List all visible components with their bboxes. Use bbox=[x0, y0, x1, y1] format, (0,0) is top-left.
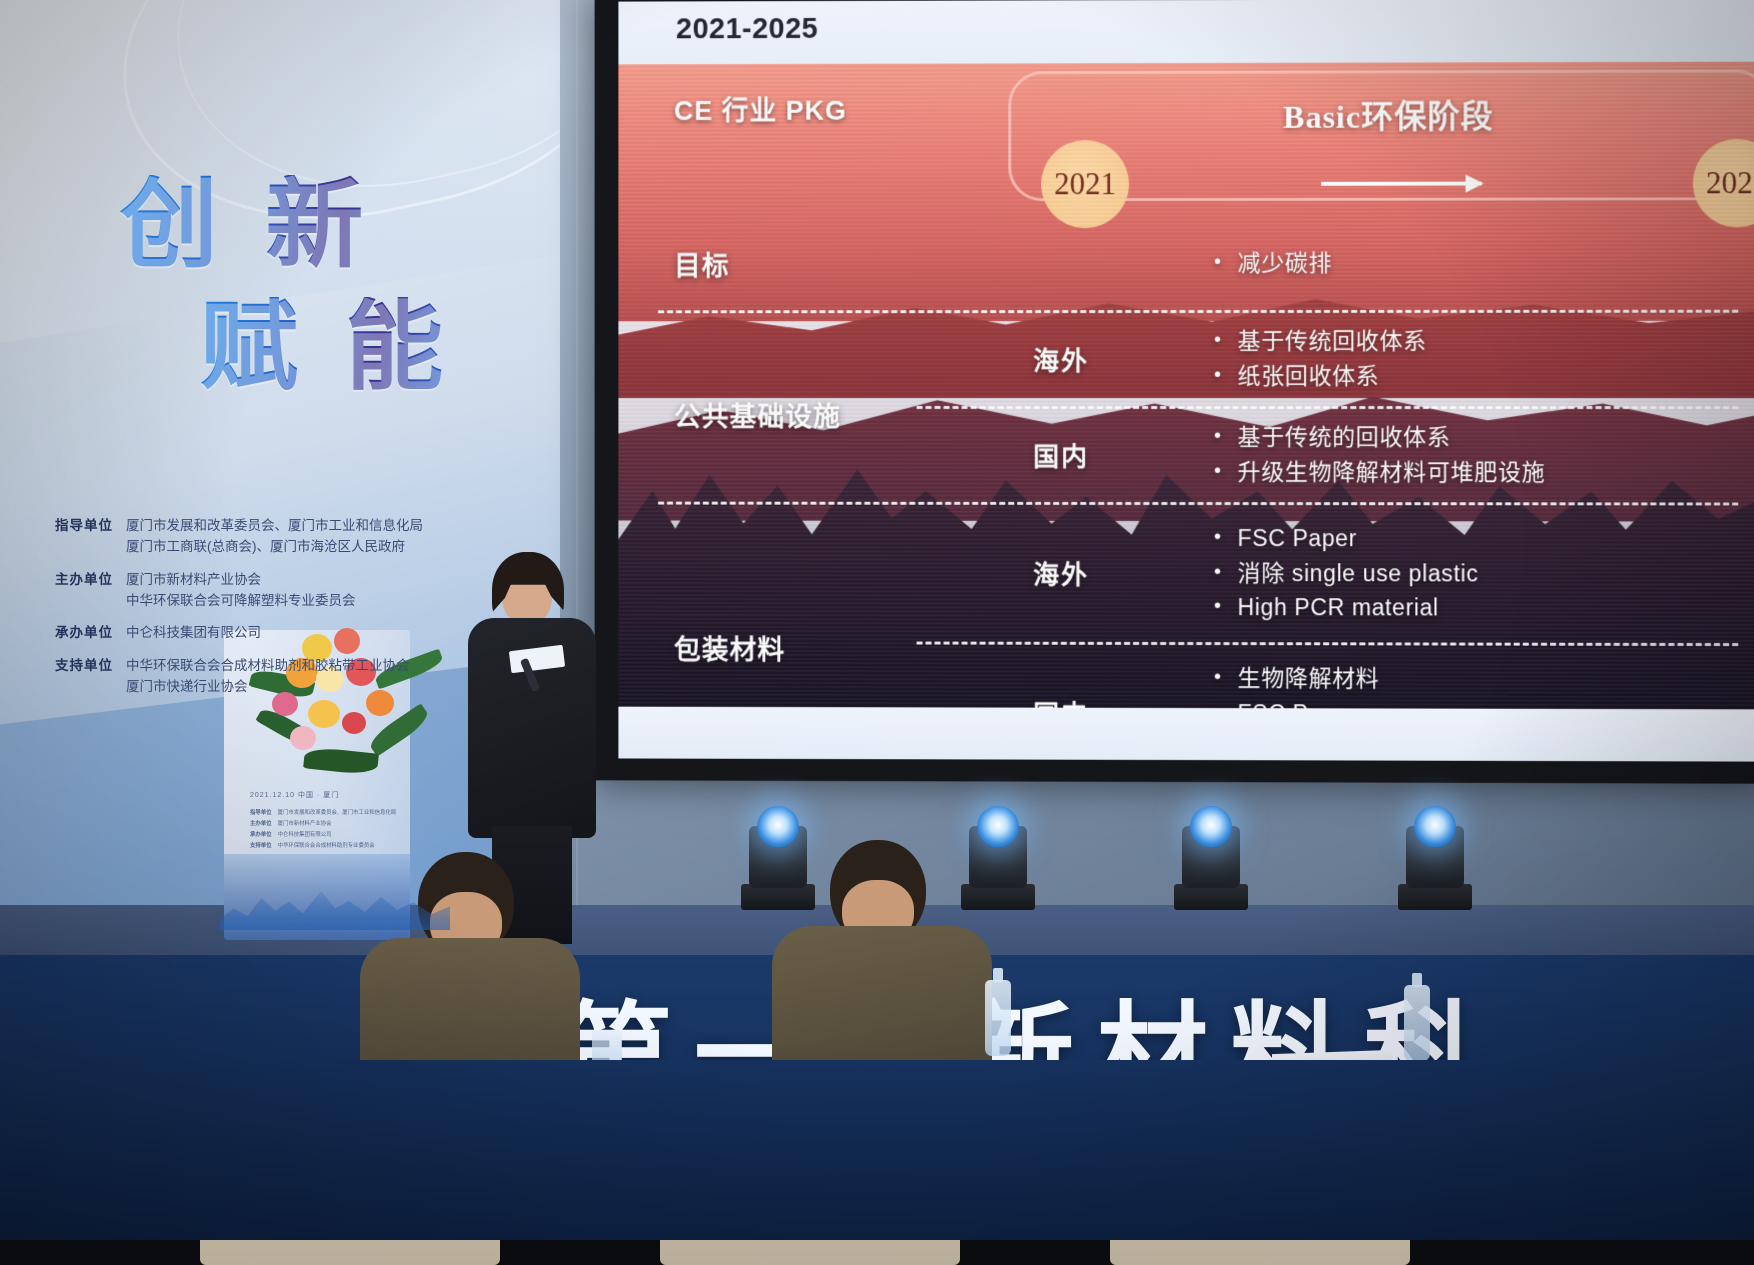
bullet-text: FSC Paper bbox=[1238, 521, 1357, 556]
phase-timeline-box: Basic环保阶段 2021 2025 bbox=[1008, 70, 1754, 202]
bullet-dot-icon: • bbox=[1214, 245, 1222, 277]
spotlight-lens-icon bbox=[1190, 806, 1232, 848]
credit-value: 厦门市快递行业协会 bbox=[126, 676, 410, 697]
right-arrow-icon bbox=[1321, 182, 1482, 186]
phase-title: Basic环保阶段 bbox=[1011, 91, 1754, 139]
slide-pkg-label: CE 行业 PKG bbox=[674, 89, 847, 128]
presentation-slide: 2021-2025 CE 行业 PKG Basic环保阶段 2021 bbox=[618, 0, 1754, 762]
credit-row: 支持单位 中华环保联合会合成材料助剂和胶粘带工业协会 厦门市快递行业协会 bbox=[55, 655, 525, 698]
podium-sign-line: 主办单位 厦门市新材料产业协会 bbox=[250, 819, 440, 827]
podium-sign-date: 2021.12.10 中国 · 厦门 bbox=[250, 790, 440, 800]
slide-footer-bar bbox=[618, 707, 1754, 762]
credit-key: 主办单位 bbox=[55, 569, 113, 612]
bullet-item: • 减少碳排 bbox=[1214, 245, 1754, 281]
foreground-table bbox=[0, 1060, 1754, 1240]
credit-value: 厦门市发展和改革委员会、厦门市工业和信息化局 bbox=[126, 515, 423, 536]
sub-label: 海外 bbox=[917, 554, 1206, 591]
podium-sign-value: 厦门市发展和改革委员会、厦门市工业和信息化局 bbox=[278, 808, 397, 816]
row-bullets: • 基于传统回收体系 • 纸张回收体系 bbox=[1206, 324, 1754, 394]
credit-value: 中华环保联合会合成材料助剂和胶粘带工业协会 bbox=[126, 655, 410, 676]
podium-sign-line: 承办单位 中仑科技集团有限公司 bbox=[250, 830, 440, 838]
credit-value: 中华环保联合会可降解塑料专业委员会 bbox=[126, 590, 356, 611]
credit-values: 中仑科技集团有限公司 bbox=[126, 622, 261, 643]
podium-sign-key: 支持单位 bbox=[250, 841, 272, 849]
bullet-text: 纸张回收体系 bbox=[1238, 359, 1380, 394]
slide-row-infrastructure: 公共基础设施 海外 • 基于传统回收体系 • 纸张回收体系 bbox=[618, 311, 1754, 504]
podium-sign-value: 厦门市新材料产业协会 bbox=[278, 819, 332, 827]
row-category-label: 目标 bbox=[618, 244, 916, 283]
podium-sign-key: 承办单位 bbox=[250, 830, 272, 838]
credit-row: 承办单位 中仑科技集团有限公司 bbox=[55, 622, 525, 643]
podium-sign-key: 主办单位 bbox=[250, 819, 272, 827]
credit-key: 支持单位 bbox=[55, 655, 113, 698]
bullet-item: • High PCR material bbox=[1214, 591, 1754, 627]
podium-sign-line: 支持单位 中华环保联合会合成材料助剂专业委员会 bbox=[250, 841, 440, 849]
banner-title-line1: 创 新 bbox=[120, 175, 540, 275]
credit-row: 指导单位 厦门市发展和改革委员会、厦门市工业和信息化局 厦门市工商联(总商会)、… bbox=[55, 515, 525, 558]
stage-light bbox=[1392, 790, 1478, 910]
conference-scene: 创 新 赋 能 指导单位 厦门市发展和改革委员会、厦门市工业和信息化局 厦门市工… bbox=[0, 0, 1754, 1240]
slide-row-packaging: 包装材料 海外 • FSC Paper • 消除 single us bbox=[618, 503, 1754, 710]
bullet-text: 基于传统回收体系 bbox=[1238, 324, 1427, 359]
bullet-text: High PCR material bbox=[1238, 591, 1439, 626]
stage-light bbox=[1168, 790, 1254, 910]
credit-value: 中仑科技集团有限公司 bbox=[126, 622, 261, 643]
credit-values: 厦门市发展和改革委员会、厦门市工业和信息化局 厦门市工商联(总商会)、厦门市海沧… bbox=[126, 515, 423, 558]
bullet-text: 升级生物降解材料可堆肥设施 bbox=[1238, 455, 1546, 490]
podium-sign-key: 指导单位 bbox=[250, 808, 272, 816]
credit-value: 厦门市新材料产业协会 bbox=[126, 569, 356, 590]
slide-rows: 目标 • 减少碳排 公共基础设施 bbox=[618, 214, 1754, 709]
banner-title: 创 新 赋 能 bbox=[120, 175, 540, 397]
credit-key: 指导单位 bbox=[55, 515, 113, 558]
slide-row-goal: 目标 • 减少碳排 bbox=[618, 214, 1754, 311]
credit-row: 主办单位 厦门市新材料产业协会 中华环保联合会可降解塑料专业委员会 bbox=[55, 569, 525, 612]
subrow-domestic: 国内 • 生物降解材料 • FSC Paper bbox=[618, 642, 1754, 709]
banner-title-line2: 赋 能 bbox=[200, 297, 540, 397]
bullet-dot-icon: • bbox=[1214, 420, 1222, 452]
podium-sign-line: 指导单位 厦门市发展和改革委员会、厦门市工业和信息化局 bbox=[250, 808, 440, 816]
bullet-dot-icon: • bbox=[1214, 661, 1222, 693]
bullet-item: • 基于传统的回收体系 bbox=[1214, 420, 1754, 455]
sub-label: 国内 bbox=[917, 436, 1206, 473]
spotlight-lens-icon bbox=[1414, 806, 1456, 848]
bullet-dot-icon: • bbox=[1214, 556, 1222, 588]
subrow-domestic: 国内 • 基于传统的回收体系 • 升级生物降解材料可堆肥设施 bbox=[618, 407, 1754, 504]
led-screen-frame: 2021-2025 CE 行业 PKG Basic环保阶段 2021 bbox=[595, 0, 1754, 784]
podium-sign-value: 中华环保联合会合成材料助剂专业委员会 bbox=[278, 841, 375, 849]
slide-year-range: 2021-2025 bbox=[676, 13, 818, 46]
bullet-text: 减少碳排 bbox=[1238, 245, 1333, 280]
row-bullets: • 生物降解材料 • FSC Paper • 消除 single use pla… bbox=[1206, 661, 1754, 710]
banner-credits: 指导单位 厦门市发展和改革委员会、厦门市工业和信息化局 厦门市工商联(总商会)、… bbox=[55, 515, 525, 708]
row-sub-label: 国内 bbox=[917, 436, 1206, 473]
credit-values: 厦门市新材料产业协会 中华环保联合会可降解塑料专业委员会 bbox=[126, 569, 356, 612]
row-bullets: • 减少碳排 bbox=[1206, 245, 1754, 281]
bullet-item: • 生物降解材料 bbox=[1214, 661, 1754, 697]
slide-content: CE 行业 PKG Basic环保阶段 2021 2025 目标 bbox=[618, 62, 1754, 710]
podium-sign-value: 中仑科技集团有限公司 bbox=[278, 830, 332, 838]
bullet-dot-icon: • bbox=[1214, 455, 1222, 487]
water-bottle bbox=[1404, 985, 1430, 1061]
bullet-text: 消除 single use plastic bbox=[1238, 556, 1479, 591]
bullet-item: • 消除 single use plastic bbox=[1214, 556, 1754, 592]
bullet-item: • 升级生物降解材料可堆肥设施 bbox=[1214, 455, 1754, 490]
bullet-dot-icon: • bbox=[1214, 324, 1222, 356]
bullet-item: • 纸张回收体系 bbox=[1214, 359, 1754, 394]
bullet-text: 生物降解材料 bbox=[1238, 661, 1380, 696]
bullet-item: • FSC Paper bbox=[1214, 521, 1754, 557]
row-bullets: • FSC Paper • 消除 single use plastic • Hi… bbox=[1206, 521, 1754, 627]
audience-member bbox=[772, 840, 992, 1090]
row-bullets: • 基于传统的回收体系 • 升级生物降解材料可堆肥设施 bbox=[1206, 420, 1754, 490]
subrow-overseas: 海外 • 基于传统回收体系 • 纸张回收体系 bbox=[618, 311, 1754, 407]
credit-value: 厦门市工商联(总商会)、厦门市海沧区人民政府 bbox=[126, 536, 423, 557]
bullet-text: 基于传统的回收体系 bbox=[1238, 420, 1451, 455]
credit-key: 承办单位 bbox=[55, 622, 113, 643]
row-sub-label: 海外 bbox=[917, 340, 1206, 377]
podium-sign-credits: 指导单位 厦门市发展和改革委员会、厦门市工业和信息化局 主办单位 厦门市新材料产… bbox=[250, 808, 440, 849]
slide-header-bar: 2021-2025 bbox=[618, 0, 1754, 64]
row-sub-label: 海外 bbox=[917, 554, 1206, 591]
sub-label: 海外 bbox=[917, 340, 1206, 377]
slide-title-zone: CE 行业 PKG Basic环保阶段 2021 2025 bbox=[618, 62, 1754, 216]
podium-sign-skyline-graphic bbox=[220, 870, 450, 930]
subrow-overseas: 海外 • FSC Paper • 消除 single use plastic bbox=[618, 503, 1754, 645]
podium-sign: 2021.12.10 中国 · 厦门 指导单位 厦门市发展和改革委员会、厦门市工… bbox=[250, 790, 440, 930]
bullet-dot-icon: • bbox=[1214, 591, 1222, 623]
credit-values: 中华环保联合会合成材料助剂和胶粘带工业协会 厦门市快递行业协会 bbox=[126, 655, 410, 698]
bullet-item: • 基于传统回收体系 bbox=[1214, 324, 1754, 359]
water-bottle bbox=[985, 980, 1011, 1056]
bullet-dot-icon: • bbox=[1214, 359, 1222, 391]
bullet-dot-icon: • bbox=[1214, 521, 1222, 553]
